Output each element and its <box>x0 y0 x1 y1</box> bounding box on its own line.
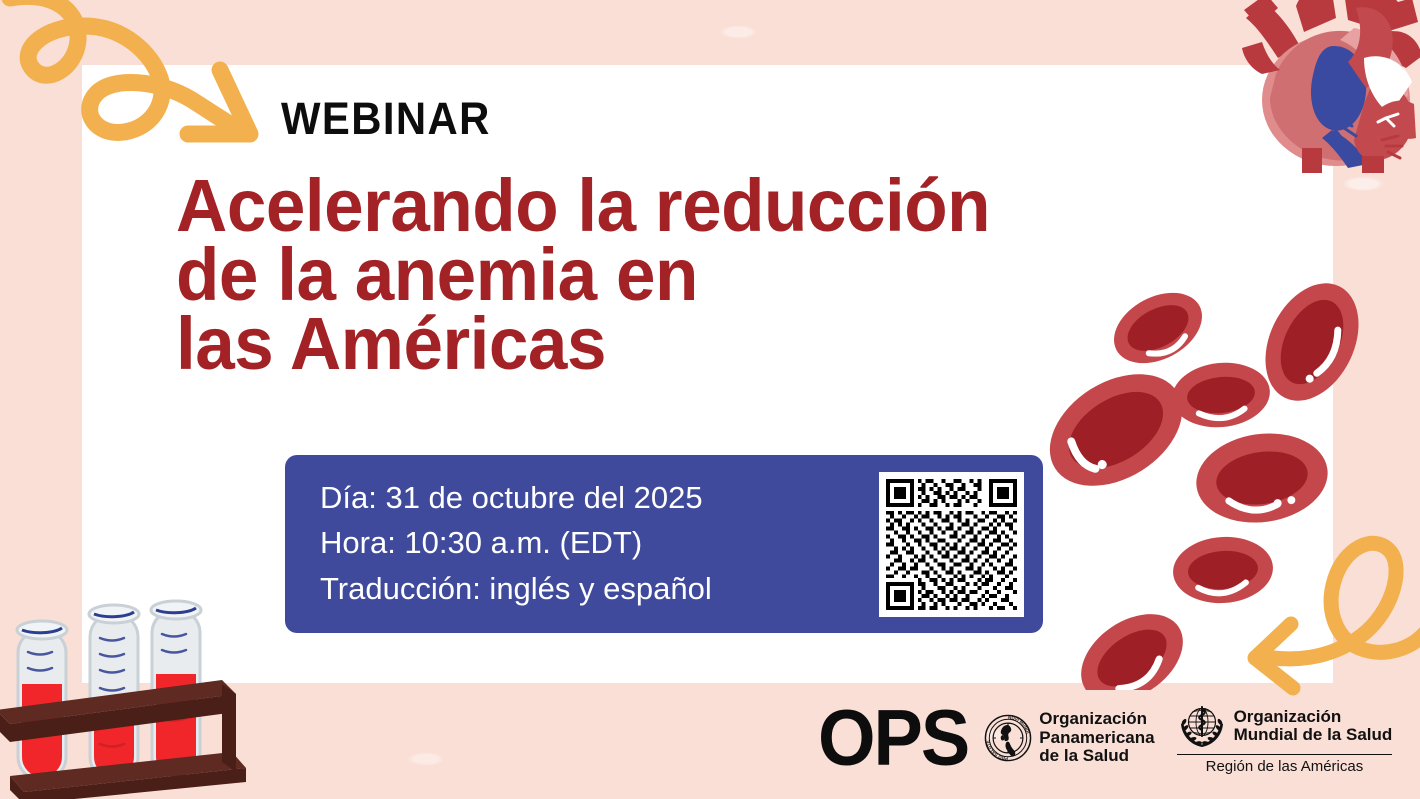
qr-code-image <box>886 479 1017 610</box>
paho-name: Organización Panamericana de la Salud <box>1039 710 1154 765</box>
paho-line-2: Panamericana <box>1039 729 1154 747</box>
who-name: Organización Mundial de la Salud <box>1234 708 1393 745</box>
eyebrow-label: WEBINAR <box>281 96 491 141</box>
who-region-label: Región de las Américas <box>1177 754 1393 775</box>
event-date-line: Día: 31 de octubre del 2025 <box>320 475 712 520</box>
who-logo: Organización Mundial de la Salud Región … <box>1177 701 1393 775</box>
logo-bar: OPS NOVI MUNDI PRO SALUTE <box>818 697 1392 779</box>
paho-line-1: Organización <box>1039 710 1154 728</box>
paho-line-3: de la Salud <box>1039 747 1154 765</box>
webinar-poster: WEBINAR Acelerando la reducción de la an… <box>0 0 1420 799</box>
qr-code[interactable] <box>879 472 1024 617</box>
event-time-line: Hora: 10:30 a.m. (EDT) <box>320 520 712 565</box>
event-details-list: Día: 31 de octubre del 2025 Hora: 10:30 … <box>320 475 712 611</box>
svg-text:PRO SALUTE: PRO SALUTE <box>985 740 1008 761</box>
title-line-2: de la anemia en <box>176 241 1194 310</box>
who-line-1: Organización <box>1234 708 1393 726</box>
who-emblem-icon <box>1177 701 1227 751</box>
paho-seal-icon: NOVI MUNDI PRO SALUTE <box>984 714 1032 762</box>
page-title: Acelerando la reducción de la anemia en … <box>176 172 1194 378</box>
paho-logo: NOVI MUNDI PRO SALUTE Organización Panam… <box>984 710 1154 765</box>
who-line-2: Mundial de la Salud <box>1234 726 1393 744</box>
event-details-panel: Día: 31 de octubre del 2025 Hora: 10:30 … <box>285 455 1043 633</box>
event-translation-line: Traducción: inglés y español <box>320 566 712 611</box>
title-line-1: Acelerando la reducción <box>176 172 1194 241</box>
title-line-3: las Américas <box>176 310 1194 379</box>
ops-wordmark: OPS <box>818 699 968 777</box>
